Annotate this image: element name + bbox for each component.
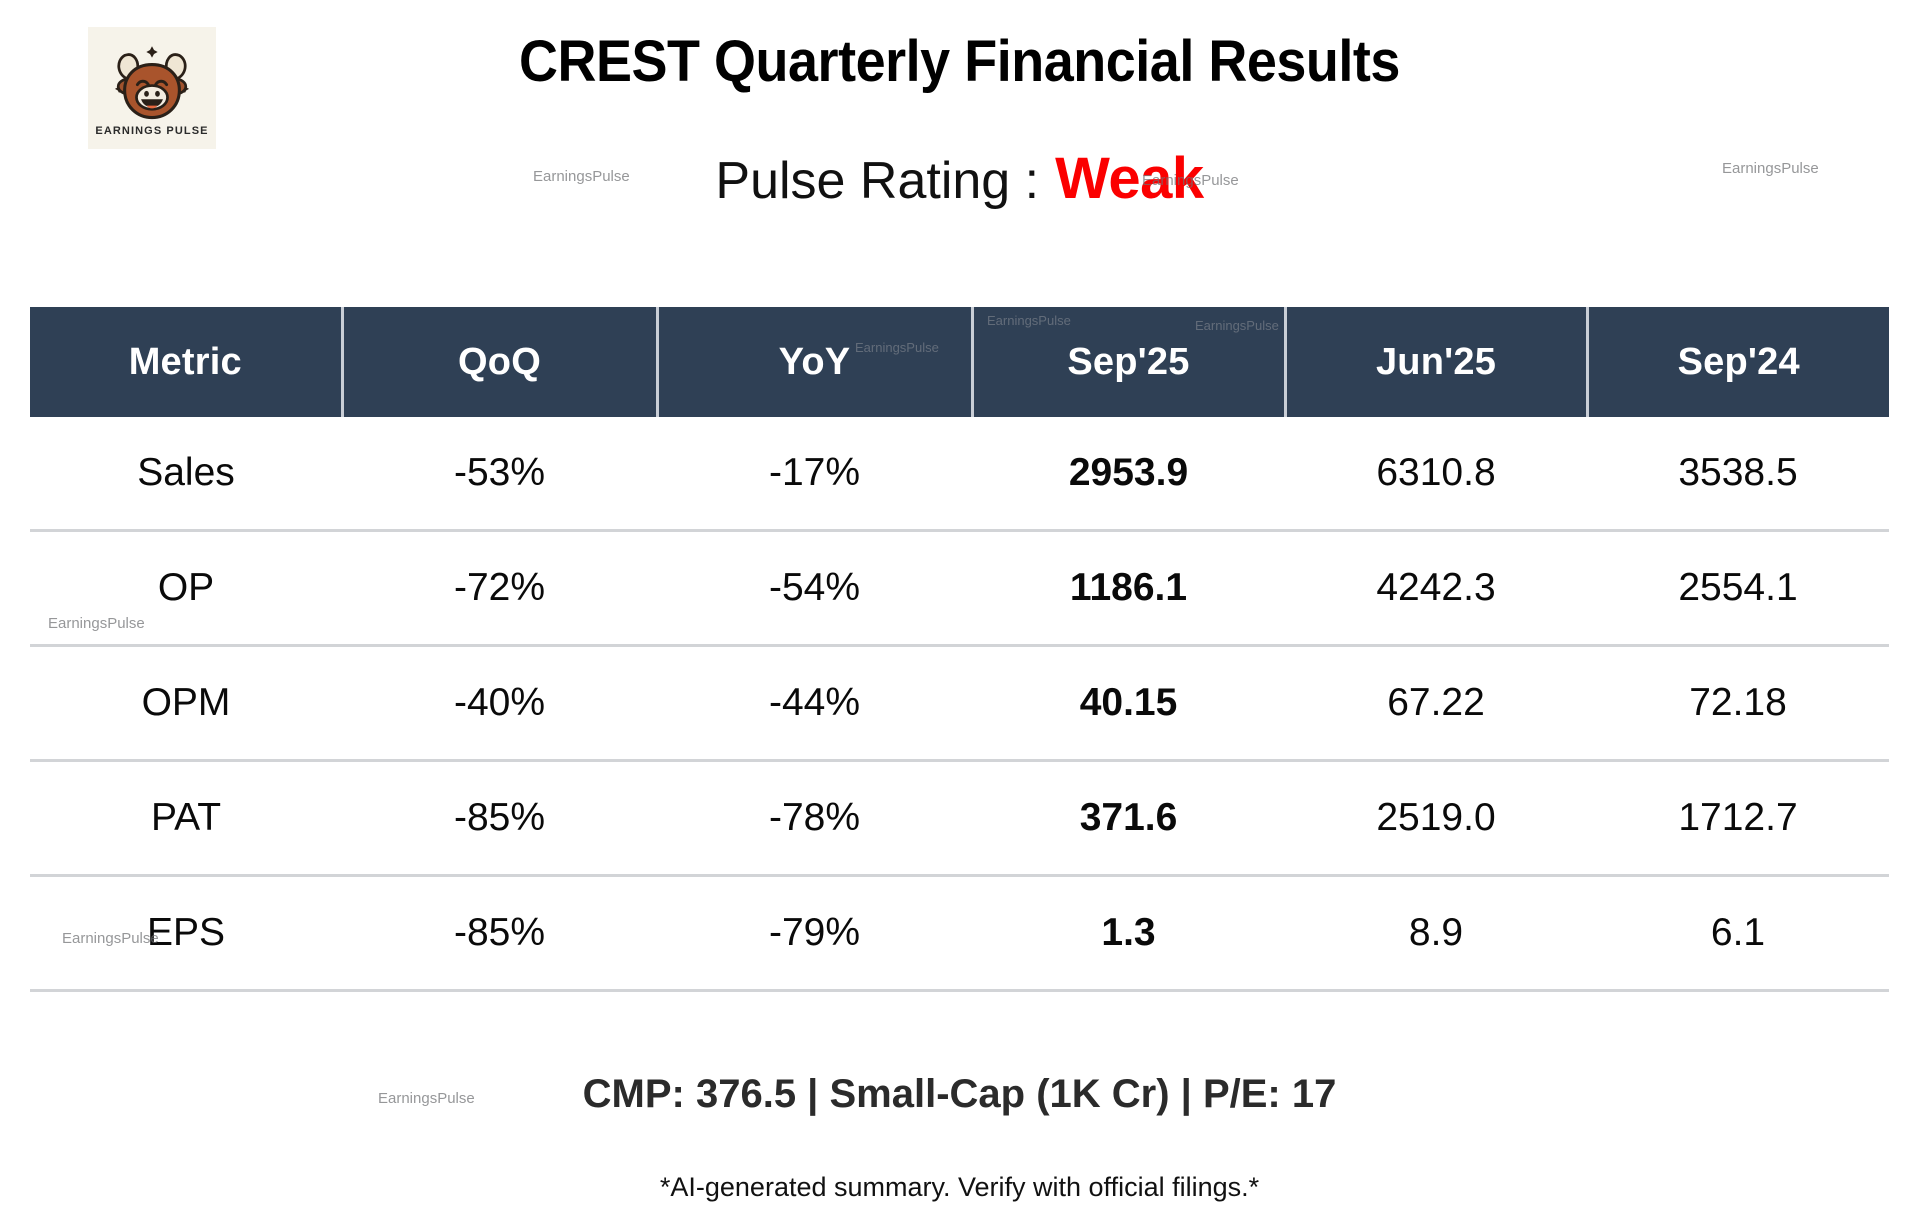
cell-yoy: -54%: [657, 531, 972, 646]
pulse-rating: Pulse Rating :Weak: [0, 145, 1919, 212]
cell-sep25: 371.6: [972, 761, 1285, 876]
cell-sep25: 1.3: [972, 876, 1285, 991]
cell-metric: PAT: [30, 761, 342, 876]
column-header-sep24: Sep'24: [1587, 307, 1889, 417]
cell-sep25: 40.15: [972, 646, 1285, 761]
cell-qoq: -53%: [342, 417, 657, 531]
pulse-rating-value: Weak: [1055, 146, 1203, 211]
cell-sep25: 2953.9: [972, 417, 1285, 531]
cell-jun25: 8.9: [1285, 876, 1587, 991]
table-row: Sales -53% -17% 2953.9 6310.8 3538.5: [30, 417, 1889, 531]
table-row: EPS -85% -79% 1.3 8.9 6.1: [30, 876, 1889, 991]
table-row: PAT -85% -78% 371.6 2519.0 1712.7: [30, 761, 1889, 876]
column-header-qoq: QoQ: [342, 307, 657, 417]
cell-yoy: -78%: [657, 761, 972, 876]
table-row: OPM -40% -44% 40.15 67.22 72.18: [30, 646, 1889, 761]
table-header-row: Metric QoQ YoY Sep'25 Jun'25 Sep'24: [30, 307, 1889, 417]
cell-yoy: -79%: [657, 876, 972, 991]
cell-jun25: 6310.8: [1285, 417, 1587, 531]
column-header-metric: Metric: [30, 307, 342, 417]
cell-sep25: 1186.1: [972, 531, 1285, 646]
cell-sep24: 72.18: [1587, 646, 1889, 761]
cell-qoq: -85%: [342, 876, 657, 991]
pulse-rating-label: Pulse Rating :: [715, 152, 1039, 210]
cell-jun25: 67.22: [1285, 646, 1587, 761]
cell-qoq: -40%: [342, 646, 657, 761]
cell-yoy: -17%: [657, 417, 972, 531]
cell-yoy: -44%: [657, 646, 972, 761]
cell-sep24: 6.1: [1587, 876, 1889, 991]
table-row: OP -72% -54% 1186.1 4242.3 2554.1: [30, 531, 1889, 646]
logo-wordmark: EARNINGS PULSE: [95, 125, 208, 137]
cell-sep24: 1712.7: [1587, 761, 1889, 876]
column-header-jun25: Jun'25: [1285, 307, 1587, 417]
financial-results-table: Metric QoQ YoY Sep'25 Jun'25 Sep'24 Sale…: [30, 307, 1889, 992]
cell-sep24: 3538.5: [1587, 417, 1889, 531]
cell-metric: OPM: [30, 646, 342, 761]
column-header-yoy: YoY: [657, 307, 972, 417]
cell-sep24: 2554.1: [1587, 531, 1889, 646]
cell-metric: EPS: [30, 876, 342, 991]
cell-metric: Sales: [30, 417, 342, 531]
page-title: CREST Quarterly Financial Results: [67, 28, 1852, 95]
cell-jun25: 2519.0: [1285, 761, 1587, 876]
cell-jun25: 4242.3: [1285, 531, 1587, 646]
column-header-sep25: Sep'25: [972, 307, 1285, 417]
cell-metric: OP: [30, 531, 342, 646]
cell-qoq: -72%: [342, 531, 657, 646]
cell-qoq: -85%: [342, 761, 657, 876]
footer-stats: CMP: 376.5 | Small-Cap (1K Cr) | P/E: 17: [0, 1072, 1919, 1117]
footer-disclaimer: *AI-generated summary. Verify with offic…: [0, 1172, 1919, 1203]
